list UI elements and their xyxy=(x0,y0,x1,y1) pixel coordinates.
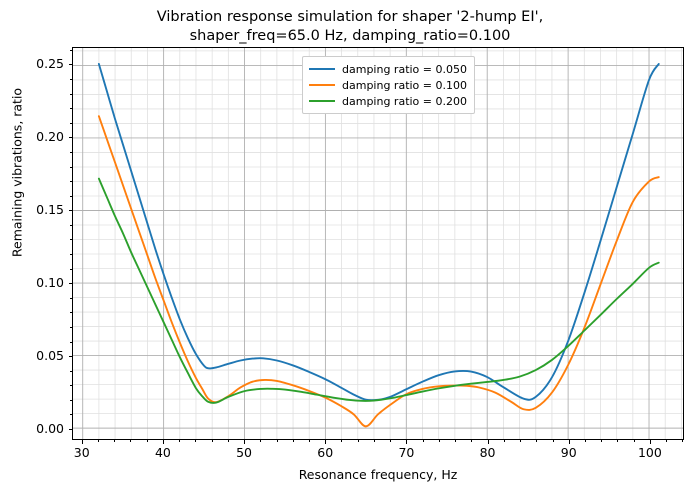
x-tick-label: 30 xyxy=(57,445,107,460)
legend-color-swatch xyxy=(309,68,335,70)
x-tick-mark xyxy=(325,440,326,444)
x-tick-mark-minor xyxy=(179,440,180,442)
y-tick-mark-minor xyxy=(70,312,72,313)
y-tick-mark-minor xyxy=(70,152,72,153)
chart-figure: Vibration response simulation for shaper… xyxy=(0,0,700,500)
y-tick-mark-minor xyxy=(70,123,72,124)
x-tick-label: 80 xyxy=(463,445,513,460)
legend-item: damping ratio = 0.100 xyxy=(309,77,467,93)
y-tick-mark-minor xyxy=(70,342,72,343)
x-tick-mark-minor xyxy=(634,440,635,442)
chart-title: Vibration response simulation for shaper… xyxy=(0,8,700,46)
y-tick-mark-minor xyxy=(70,167,72,168)
x-tick-mark-minor xyxy=(309,440,310,442)
y-tick-mark-minor xyxy=(70,94,72,95)
x-tick-mark-minor xyxy=(585,440,586,442)
legend-color-swatch xyxy=(309,100,335,102)
x-axis-label: Resonance frequency, Hz xyxy=(72,467,684,482)
x-tick-mark-minor xyxy=(293,440,294,442)
y-tick-mark-minor xyxy=(70,181,72,182)
y-tick-mark-minor xyxy=(70,327,72,328)
y-tick-mark-minor xyxy=(70,225,72,226)
y-tick-label: 0.00 xyxy=(4,421,64,436)
chart-legend: damping ratio = 0.050damping ratio = 0.1… xyxy=(302,56,475,114)
y-tick-mark-minor xyxy=(70,298,72,299)
x-tick-mark-minor xyxy=(617,440,618,442)
y-tick-mark xyxy=(69,64,73,65)
x-tick-mark xyxy=(163,440,164,444)
legend-label: damping ratio = 0.050 xyxy=(342,63,467,76)
x-tick-mark-minor xyxy=(374,440,375,442)
y-tick-mark-minor xyxy=(70,239,72,240)
x-tick-mark-minor xyxy=(277,440,278,442)
x-tick-mark-minor xyxy=(423,440,424,442)
series-lines xyxy=(99,64,659,426)
x-tick-mark-minor xyxy=(147,440,148,442)
y-tick-mark-minor xyxy=(70,50,72,51)
x-tick-mark-minor xyxy=(601,440,602,442)
y-tick-mark xyxy=(69,137,73,138)
y-tick-mark-minor xyxy=(70,196,72,197)
x-tick-mark xyxy=(244,440,245,444)
x-tick-mark xyxy=(650,440,651,444)
x-tick-mark xyxy=(569,440,570,444)
x-tick-mark xyxy=(82,440,83,444)
x-tick-mark-minor xyxy=(114,440,115,442)
y-tick-mark-minor xyxy=(70,371,72,372)
series-line-2 xyxy=(99,179,659,403)
y-tick-mark xyxy=(69,210,73,211)
x-tick-mark-minor xyxy=(130,440,131,442)
x-tick-mark-minor xyxy=(341,440,342,442)
x-tick-mark-minor xyxy=(212,440,213,442)
x-tick-mark-minor xyxy=(455,440,456,442)
legend-label: damping ratio = 0.200 xyxy=(342,95,467,108)
x-tick-mark-minor xyxy=(666,440,667,442)
x-tick-mark-minor xyxy=(682,440,683,442)
x-tick-label: 50 xyxy=(219,445,269,460)
x-tick-label: 100 xyxy=(625,445,675,460)
x-tick-mark-minor xyxy=(358,440,359,442)
legend-color-swatch xyxy=(309,84,335,86)
y-tick-mark-minor xyxy=(70,254,72,255)
x-tick-label: 90 xyxy=(544,445,594,460)
x-tick-mark-minor xyxy=(520,440,521,442)
y-tick-mark-minor xyxy=(70,414,72,415)
x-tick-mark-minor xyxy=(390,440,391,442)
legend-label: damping ratio = 0.100 xyxy=(342,79,467,92)
x-tick-mark-minor xyxy=(260,440,261,442)
legend-item: damping ratio = 0.050 xyxy=(309,61,467,77)
x-tick-label: 60 xyxy=(300,445,350,460)
y-tick-mark xyxy=(69,356,73,357)
y-tick-mark-minor xyxy=(70,269,72,270)
x-tick-mark-minor xyxy=(504,440,505,442)
x-tick-label: 70 xyxy=(381,445,431,460)
x-tick-mark-minor xyxy=(471,440,472,442)
series-line-1 xyxy=(99,116,659,426)
y-axis-label: Remaining vibrations, ratio xyxy=(10,0,25,353)
x-tick-mark-minor xyxy=(195,440,196,442)
x-tick-mark-minor xyxy=(98,440,99,442)
y-tick-mark-minor xyxy=(70,108,72,109)
x-tick-label: 40 xyxy=(138,445,188,460)
x-tick-mark xyxy=(406,440,407,444)
x-tick-mark-minor xyxy=(553,440,554,442)
legend-item: damping ratio = 0.200 xyxy=(309,93,467,109)
x-tick-mark-minor xyxy=(228,440,229,442)
y-tick-mark-minor xyxy=(70,400,72,401)
x-tick-mark-minor xyxy=(536,440,537,442)
y-tick-mark-minor xyxy=(70,79,72,80)
y-tick-mark xyxy=(69,283,73,284)
y-tick-mark-minor xyxy=(70,385,72,386)
x-tick-mark xyxy=(488,440,489,444)
x-tick-mark-minor xyxy=(439,440,440,442)
y-tick-mark xyxy=(69,429,73,430)
